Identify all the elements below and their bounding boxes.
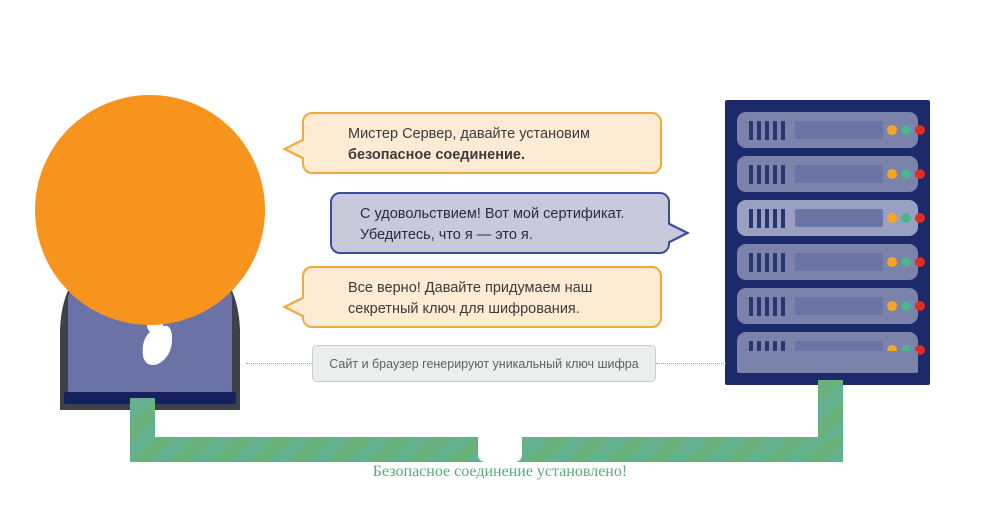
bubble-tail-fill bbox=[287, 140, 305, 158]
pipe-right-leg bbox=[818, 380, 843, 438]
led-orange-icon bbox=[887, 301, 897, 311]
server-rack bbox=[725, 100, 930, 385]
drive-slot bbox=[795, 297, 883, 315]
rack-unit-5 bbox=[737, 288, 918, 324]
bubble-3-line-2: секретный ключ для шифрования. bbox=[348, 299, 644, 320]
led-green-icon bbox=[901, 213, 911, 223]
speech-bubble-browser-2: Все верно! Давайте придумаем наш секретн… bbox=[302, 266, 662, 328]
led-orange-icon bbox=[887, 125, 897, 135]
browser-character bbox=[0, 0, 300, 420]
led-orange-icon bbox=[887, 169, 897, 179]
rack-base-panel bbox=[737, 351, 918, 373]
led-red-icon bbox=[915, 213, 925, 223]
rack-unit-1 bbox=[737, 112, 918, 148]
vent-icon bbox=[749, 209, 787, 228]
led-red-icon bbox=[915, 257, 925, 267]
footer-caption: Безопасное соединение установлено! bbox=[0, 463, 1000, 481]
rack-unit-4 bbox=[737, 244, 918, 280]
pipe-left-leg bbox=[130, 398, 155, 438]
bubble-1-line-1: Мистер Сервер, давайте установим bbox=[348, 124, 644, 145]
vent-icon bbox=[749, 165, 787, 184]
bubble-tail-fill bbox=[287, 298, 305, 316]
led-green-icon bbox=[901, 125, 911, 135]
bubble-1-line-2: безопасное соединение. bbox=[348, 145, 644, 166]
bubble-3-line-1: Все верно! Давайте придумаем наш bbox=[348, 278, 644, 299]
bubble-2-line-1: С удовольствием! Вот мой сертификат. bbox=[360, 204, 652, 225]
vent-icon bbox=[749, 297, 787, 316]
infographic-canvas: Мистер Сервер, давайте установим безопас… bbox=[0, 0, 1000, 523]
connector-line-left bbox=[246, 363, 312, 364]
speech-bubble-browser-1: Мистер Сервер, давайте установим безопас… bbox=[302, 112, 662, 174]
led-green-icon bbox=[901, 301, 911, 311]
rack-unit-2 bbox=[737, 156, 918, 192]
padlock-icon bbox=[464, 398, 536, 464]
bubble-2-line-2: Убедитесь, что я — это я. bbox=[360, 225, 652, 246]
drive-slot bbox=[795, 253, 883, 271]
led-red-icon bbox=[915, 169, 925, 179]
led-red-icon bbox=[915, 301, 925, 311]
drive-slot bbox=[795, 121, 883, 139]
key-generation-banner: Сайт и браузер генерируют уникальный клю… bbox=[312, 345, 656, 382]
led-green-icon bbox=[901, 257, 911, 267]
led-orange-icon bbox=[887, 213, 897, 223]
rack-unit-3 bbox=[737, 200, 918, 236]
speech-bubble-server-1: С удовольствием! Вот мой сертификат. Убе… bbox=[330, 192, 670, 254]
key-banner-label: Сайт и браузер генерируют уникальный клю… bbox=[329, 357, 638, 371]
led-green-icon bbox=[901, 169, 911, 179]
vent-icon bbox=[749, 253, 787, 272]
led-orange-icon bbox=[887, 257, 897, 267]
connector-line-right bbox=[656, 363, 726, 364]
drive-slot bbox=[795, 209, 883, 227]
orange-backdrop-circle bbox=[35, 95, 265, 325]
drive-slot bbox=[795, 165, 883, 183]
vent-icon bbox=[749, 121, 787, 140]
bubble-tail-fill bbox=[667, 224, 685, 242]
led-red-icon bbox=[915, 125, 925, 135]
